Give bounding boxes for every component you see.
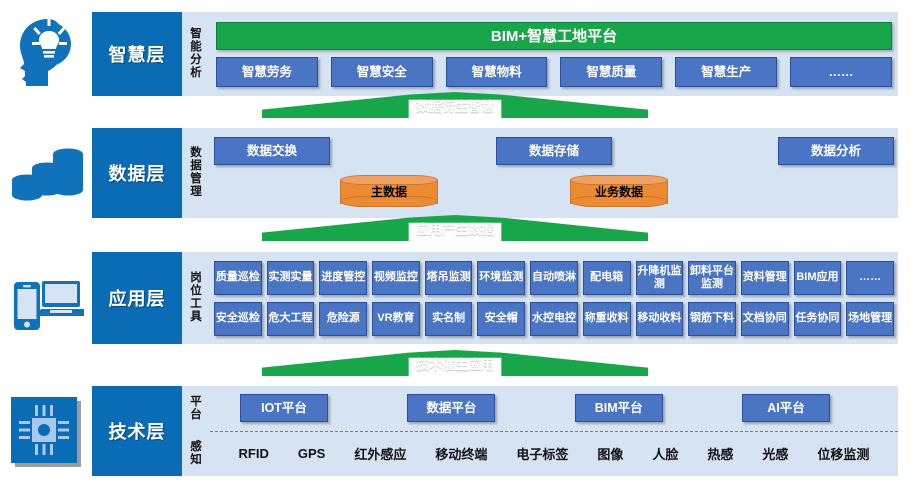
sensor-displacement-monitoring: 位移监测 xyxy=(817,444,869,463)
tile-document-management[interactable]: 资料管理 xyxy=(741,261,789,295)
tile-water-power-control[interactable]: 水控电控 xyxy=(530,302,578,336)
tile-smart-production[interactable]: 智慧生产 xyxy=(675,57,777,87)
arrow-label-1: 数据衍生智慧 xyxy=(262,92,648,118)
cylinder-master-data-label: 主数据 xyxy=(340,175,438,207)
layer-application: 应用层 岗位工具 质量巡检 实测实量 进度管控 视频监控 塔吊监测 环境监测 自… xyxy=(92,252,898,344)
tile-distribution-box[interactable]: 配电箱 xyxy=(583,261,631,295)
sensor-mobile-terminal: 移动终端 xyxy=(435,444,487,463)
sensor-face: 人脸 xyxy=(652,444,678,463)
tile-row1-more[interactable]: …… xyxy=(846,261,894,295)
tile-safety-inspection[interactable]: 安全巡检 xyxy=(214,302,262,336)
data-cylinder-row: 主数据 业务数据 xyxy=(210,175,898,209)
sensor-rfid: RFID xyxy=(239,446,269,461)
tile-data-analysis[interactable]: 数据分析 xyxy=(778,137,894,165)
database-stack-icon xyxy=(8,136,88,220)
application-tile-row-1: 质量巡检 实测实量 进度管控 视频监控 塔吊监测 环境监测 自动喷淋 配电箱 升… xyxy=(214,261,894,295)
tile-field-measurement[interactable]: 实测实量 xyxy=(267,261,315,295)
layer-intelligence: 智慧层 智能分析 BIM+智慧工地平台 智慧劳务 智慧安全 智慧物料 智慧质量 … xyxy=(92,12,898,96)
tile-hazard-source[interactable]: 危险源 xyxy=(319,302,367,336)
tile-elevator-monitoring[interactable]: 升降机监测 xyxy=(636,261,684,295)
technology-sensing-row: RFID GPS 红外感应 移动终端 电子标签 图像 人脸 热感 光感 位移监测 xyxy=(210,431,898,477)
tile-unloading-platform-monitoring[interactable]: 卸料平台监测 xyxy=(688,261,736,295)
tile-real-name-system[interactable]: 实名制 xyxy=(425,302,473,336)
layer-technology-side-label: 平台 感知 xyxy=(182,386,210,476)
tile-tower-crane-monitoring[interactable]: 塔吊监测 xyxy=(425,261,473,295)
cylinder-business-data[interactable]: 业务数据 xyxy=(570,175,668,207)
tile-site-management[interactable]: 场地管理 xyxy=(846,302,894,336)
cpu-chip-icon xyxy=(8,388,88,478)
head-lightbulb-icon xyxy=(8,8,88,96)
tile-data-platform[interactable]: 数据平台 xyxy=(407,394,495,422)
arrow-application-to-data: 应用产生数据 xyxy=(262,215,648,241)
layer-intelligence-side-label: 智能分析 xyxy=(182,12,210,96)
layer-technology: 技术层 平台 感知 IOT平台 数据平台 BIM平台 AI平台 xyxy=(92,386,898,476)
tile-task-collaboration[interactable]: 任务协同 xyxy=(794,302,842,336)
bim-platform-banner: BIM+智慧工地平台 xyxy=(216,22,892,50)
sensor-electronic-tag: 电子标签 xyxy=(516,444,568,463)
sensor-light: 光感 xyxy=(762,444,788,463)
tile-smart-quality[interactable]: 智慧质量 xyxy=(560,57,662,87)
layer-application-title: 应用层 xyxy=(92,252,182,344)
data-box-row: 数据交换 数据存储 数据分析 xyxy=(210,137,898,165)
cylinder-master-data[interactable]: 主数据 xyxy=(340,175,438,207)
tile-bim-platform[interactable]: BIM平台 xyxy=(575,394,663,422)
tile-smart-more[interactable]: …… xyxy=(790,57,892,87)
layer-data: 数据层 数据管理 数据交换 数据存储 数据分析 主数据 xyxy=(92,128,898,218)
tile-progress-control[interactable]: 进度管控 xyxy=(319,261,367,295)
layer-data-title: 数据层 xyxy=(92,128,182,218)
tile-smart-safety[interactable]: 智慧安全 xyxy=(331,57,433,87)
tile-data-storage[interactable]: 数据存储 xyxy=(496,137,612,165)
tile-smart-labor[interactable]: 智慧劳务 xyxy=(216,57,318,87)
arrow-label-2: 应用产生数据 xyxy=(262,215,648,241)
layer-application-side-label: 岗位工具 xyxy=(182,252,210,344)
tile-safety-helmet[interactable]: 安全帽 xyxy=(477,302,525,336)
intelligence-tile-row: 智慧劳务 智慧安全 智慧物料 智慧质量 智慧生产 …… xyxy=(210,57,898,87)
layer-intelligence-title: 智慧层 xyxy=(92,12,182,96)
arrow-data-to-intelligence: 数据衍生智慧 xyxy=(262,92,648,118)
sensor-gps: GPS xyxy=(298,446,325,461)
tile-ai-platform[interactable]: AI平台 xyxy=(742,394,830,422)
tile-video-monitoring[interactable]: 视频监控 xyxy=(372,261,420,295)
sensor-infrared: 红外感应 xyxy=(354,444,406,463)
technology-platform-row: IOT平台 数据平台 BIM平台 AI平台 xyxy=(210,386,898,431)
phone-laptop-icon xyxy=(8,263,88,347)
tile-quality-inspection[interactable]: 质量巡检 xyxy=(214,261,262,295)
tile-rebar-cutting[interactable]: 钢筋下料 xyxy=(688,302,736,336)
tile-vr-education[interactable]: VR教育 xyxy=(372,302,420,336)
tile-document-collaboration[interactable]: 文档协同 xyxy=(741,302,789,336)
architecture-diagram: 智慧层 智能分析 BIM+智慧工地平台 智慧劳务 智慧安全 智慧物料 智慧质量 … xyxy=(0,0,911,489)
sensor-image: 图像 xyxy=(597,444,623,463)
cylinder-business-data-label: 业务数据 xyxy=(570,175,668,207)
sensor-thermal: 热感 xyxy=(707,444,733,463)
tile-bim-application[interactable]: BIM应用 xyxy=(794,261,842,295)
arrow-label-3: 技术催生应用 xyxy=(262,350,648,376)
arrow-technology-to-application: 技术催生应用 xyxy=(262,350,648,376)
layer-data-side-label: 数据管理 xyxy=(182,128,210,218)
tile-weighing-receipt[interactable]: 称重收料 xyxy=(583,302,631,336)
tile-mobile-receipt[interactable]: 移动收料 xyxy=(636,302,684,336)
tile-data-exchange[interactable]: 数据交换 xyxy=(214,137,330,165)
layer-technology-title: 技术层 xyxy=(92,386,182,476)
tile-auto-sprinkler[interactable]: 自动喷淋 xyxy=(530,261,578,295)
tile-iot-platform[interactable]: IOT平台 xyxy=(240,394,328,422)
application-tile-row-2: 安全巡检 危大工程 危险源 VR教育 实名制 安全帽 水控电控 称重收料 移动收… xyxy=(214,302,894,336)
tile-smart-material[interactable]: 智慧物料 xyxy=(446,57,548,87)
tile-major-hazard-project[interactable]: 危大工程 xyxy=(267,302,315,336)
tile-environment-monitoring[interactable]: 环境监测 xyxy=(477,261,525,295)
